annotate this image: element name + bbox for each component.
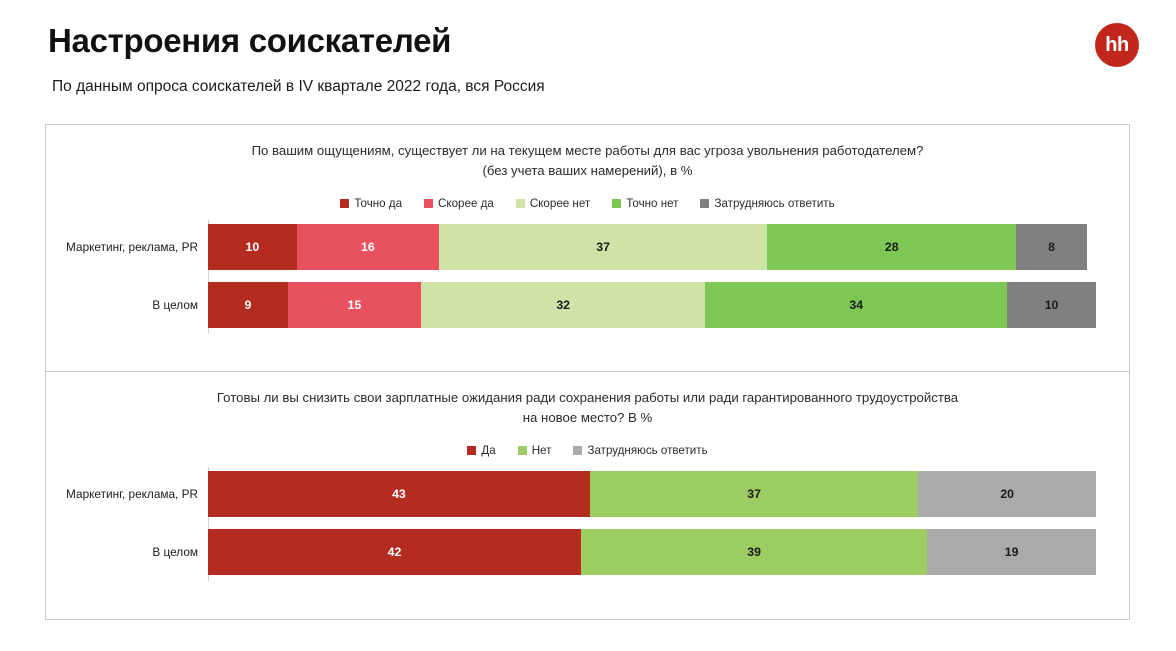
page-title: Настроения соискателей <box>48 22 1176 60</box>
bar-row: В целом423919 <box>208 529 1096 575</box>
legend-item-5[interactable]: Затрудняюсь ответить <box>700 197 834 210</box>
legend-item-1[interactable]: Да <box>467 444 495 457</box>
legend-item-label: Точно нет <box>626 197 678 210</box>
category-label: Маркетинг, реклама, PR <box>46 240 198 254</box>
chart-2-title-line2: на новое место? В % <box>94 408 1081 428</box>
legend-item-label: Да <box>481 444 495 457</box>
charts-container: По вашим ощущениям, существует ли на тек… <box>45 124 1130 620</box>
chart-1-title: По вашим ощущениям, существует ли на тек… <box>46 125 1129 181</box>
chart-1-bars: Маркетинг, реклама, PR101637288В целом91… <box>208 224 1096 328</box>
chart-2-plot: Маркетинг, реклама, PR433720В целом42391… <box>46 471 1129 575</box>
category-label: В целом <box>46 545 198 559</box>
chart-panel-dismissal-threat: По вашим ощущениям, существует ли на тек… <box>46 125 1129 371</box>
page-subtitle: По данным опроса соискателей в IV кварта… <box>52 78 1176 96</box>
legend-item-label: Точно да <box>354 197 402 210</box>
bar-segment[interactable]: 43 <box>208 471 590 517</box>
bar-segment[interactable]: 15 <box>288 282 421 328</box>
stacked-bar: 423919 <box>208 529 1096 575</box>
bar-segment[interactable]: 39 <box>581 529 927 575</box>
legend-swatch-icon <box>516 199 525 208</box>
legend-swatch-icon <box>424 199 433 208</box>
legend-item-3[interactable]: Скорее нет <box>516 197 590 210</box>
legend-swatch-icon <box>612 199 621 208</box>
stacked-bar: 433720 <box>208 471 1096 517</box>
bar-segment[interactable]: 28 <box>767 224 1016 270</box>
legend-item-1[interactable]: Точно да <box>340 197 402 210</box>
bar-segment[interactable]: 37 <box>590 471 919 517</box>
bar-segment[interactable]: 19 <box>927 529 1096 575</box>
bar-segment[interactable]: 8 <box>1016 224 1087 270</box>
bar-row: Маркетинг, реклама, PR433720 <box>208 471 1096 517</box>
legend-swatch-icon <box>340 199 349 208</box>
legend-swatch-icon <box>518 446 527 455</box>
legend-item-3[interactable]: Затрудняюсь ответить <box>573 444 707 457</box>
bar-segment[interactable]: 9 <box>208 282 288 328</box>
chart-2-title-line1: Готовы ли вы снизить свои зарплатные ожи… <box>217 390 958 405</box>
bar-row: Маркетинг, реклама, PR101637288 <box>208 224 1096 270</box>
bar-segment[interactable]: 32 <box>421 282 705 328</box>
legend-item-2[interactable]: Нет <box>518 444 552 457</box>
legend-item-2[interactable]: Скорее да <box>424 197 494 210</box>
chart-1-legend: Точно даСкорее даСкорее нетТочно нетЗатр… <box>46 197 1129 210</box>
chart-1-title-line2: (без учета ваших намерений), в % <box>94 161 1081 181</box>
chart-2-legend: ДаНетЗатрудняюсь ответить <box>46 444 1129 457</box>
legend-swatch-icon <box>573 446 582 455</box>
legend-item-label: Скорее нет <box>530 197 590 210</box>
category-label: Маркетинг, реклама, PR <box>46 487 198 501</box>
stacked-bar: 101637288 <box>208 224 1096 270</box>
legend-item-label: Скорее да <box>438 197 494 210</box>
legend-swatch-icon <box>467 446 476 455</box>
bar-segment[interactable]: 10 <box>208 224 297 270</box>
legend-item-label: Нет <box>532 444 552 457</box>
bar-segment[interactable]: 10 <box>1007 282 1096 328</box>
chart-1-title-line1: По вашим ощущениям, существует ли на тек… <box>252 143 924 158</box>
bar-segment[interactable]: 20 <box>918 471 1096 517</box>
bar-segment[interactable]: 42 <box>208 529 581 575</box>
bar-segment[interactable]: 34 <box>705 282 1007 328</box>
bar-row: В целом915323410 <box>208 282 1096 328</box>
hh-logo-icon: hh <box>1095 23 1139 67</box>
legend-item-label: Затрудняюсь ответить <box>587 444 707 457</box>
page-header: Настроения соискателей По данным опроса … <box>0 0 1176 96</box>
chart-panel-salary-expectations: Готовы ли вы снизить свои зарплатные ожи… <box>46 371 1129 619</box>
category-label: В целом <box>46 298 198 312</box>
legend-item-label: Затрудняюсь ответить <box>714 197 834 210</box>
chart-2-title: Готовы ли вы снизить свои зарплатные ожи… <box>46 372 1129 428</box>
stacked-bar: 915323410 <box>208 282 1096 328</box>
chart-1-plot: Маркетинг, реклама, PR101637288В целом91… <box>46 224 1129 328</box>
bar-segment[interactable]: 37 <box>439 224 768 270</box>
bar-segment[interactable]: 16 <box>297 224 439 270</box>
legend-item-4[interactable]: Точно нет <box>612 197 678 210</box>
legend-swatch-icon <box>700 199 709 208</box>
chart-2-bars: Маркетинг, реклама, PR433720В целом42391… <box>208 471 1096 575</box>
